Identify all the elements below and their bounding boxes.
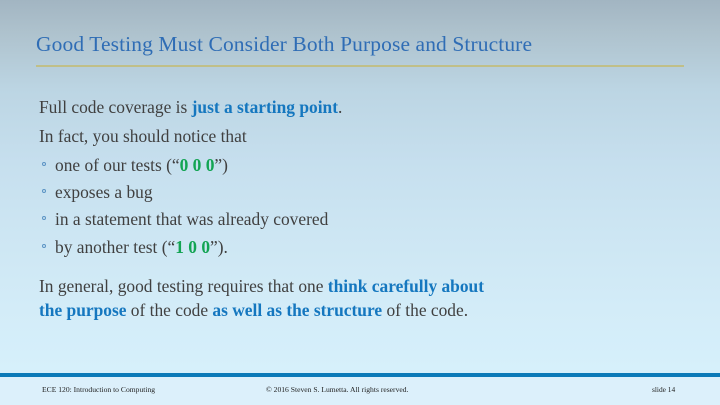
list-item: in a statement that was already covered: [39, 206, 679, 232]
bullet-circle-icon: [42, 244, 46, 248]
paragraph-in-general: In general, good testing requires that o…: [39, 274, 491, 323]
closing-part-3: of the code.: [382, 300, 468, 320]
title-block: Good Testing Must Consider Both Purpose …: [36, 32, 688, 67]
footer-copyright-label: © 2016 Steven S. Lumetta. All rights res…: [266, 385, 408, 394]
bullet-circle-icon: [42, 162, 46, 166]
page-title: Good Testing Must Consider Both Purpose …: [36, 32, 688, 57]
bullet-circle-icon: [42, 189, 46, 193]
list-item-prefix: one of our tests (“: [55, 155, 180, 175]
footer-slide-number: slide 14: [652, 385, 675, 394]
closing-part-1: In general, good testing requires that o…: [39, 276, 328, 296]
list-item-suffix: ”): [214, 155, 228, 175]
paragraph-1-emphasis: just a starting point: [192, 97, 338, 117]
closing-part-2: of the code: [126, 300, 212, 320]
paragraph-full-code-coverage: Full code coverage is just a starting po…: [39, 94, 679, 120]
footer: ECE 120: Introduction to Computing © 201…: [0, 377, 720, 405]
paragraph-in-fact: In fact, you should notice that: [39, 123, 679, 149]
title-divider: [36, 65, 684, 67]
bullet-circle-icon: [42, 216, 46, 220]
list-item: exposes a bug: [39, 179, 679, 205]
paragraph-1-suffix: .: [338, 97, 342, 117]
bullet-list: one of our tests (“0 0 0”) exposes a bug…: [39, 152, 679, 259]
list-item: one of our tests (“0 0 0”): [39, 152, 679, 178]
list-item-prefix: exposes a bug: [55, 182, 153, 202]
paragraph-1-prefix: Full code coverage is: [39, 97, 192, 117]
list-item-suffix: ”).: [210, 237, 228, 257]
list-item-value: 0 0 0: [180, 155, 215, 175]
footer-course-label: ECE 120: Introduction to Computing: [42, 385, 155, 394]
list-item-value: 1 0 0: [175, 237, 210, 257]
slide-body: Full code coverage is just a starting po…: [39, 94, 679, 326]
list-item-prefix: in a statement that was already covered: [55, 209, 328, 229]
list-item: by another test (“1 0 0”).: [39, 234, 679, 260]
slide-canvas: Good Testing Must Consider Both Purpose …: [0, 0, 720, 405]
list-item-prefix: by another test (“: [55, 237, 175, 257]
closing-emphasis-structure: as well as the structure: [212, 300, 382, 320]
